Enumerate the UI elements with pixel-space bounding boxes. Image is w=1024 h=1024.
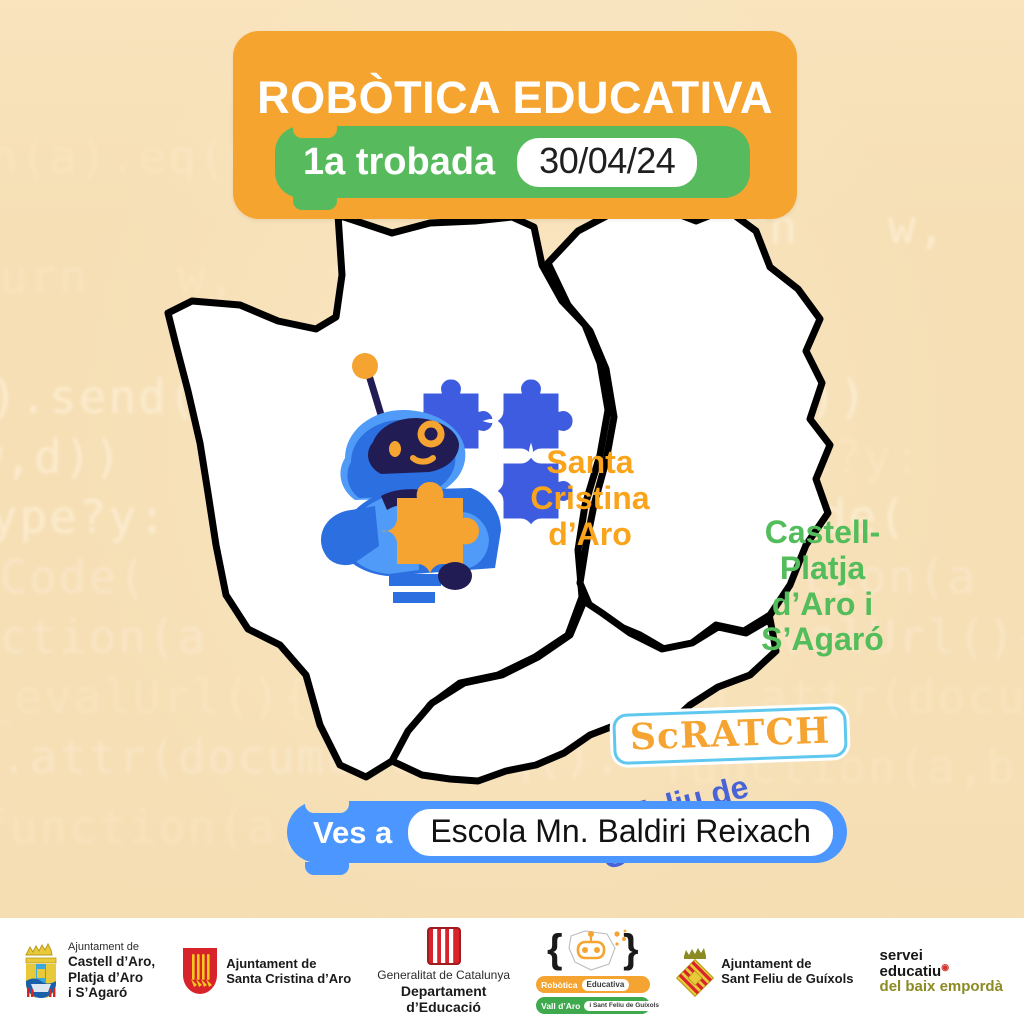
goto-block[interactable]: Ves a Escola Mn. Baldiri Reixach bbox=[287, 801, 847, 863]
sant-feliu-crest-icon bbox=[676, 945, 714, 997]
mini-block-label: Vall d’Aro bbox=[541, 1001, 580, 1011]
logo-line: d’Educació bbox=[377, 999, 510, 1015]
block-nub-icon bbox=[305, 862, 349, 875]
date-badge[interactable]: 30/04/24 bbox=[517, 138, 697, 187]
mini-block-robotica: Robòtica Educativa bbox=[536, 976, 650, 993]
santa-cristina-crest-icon bbox=[181, 946, 219, 996]
logo-line: Castell d’Aro, bbox=[68, 954, 155, 970]
venue-input[interactable]: Escola Mn. Baldiri Reixach bbox=[408, 809, 833, 856]
logo-sant-feliu-de-guixols: Ajuntament de Sant Feliu de Guíxols bbox=[676, 945, 853, 997]
meeting-label: 1a trobada bbox=[303, 143, 495, 181]
block-nub-icon bbox=[293, 197, 337, 210]
poster-root: turn w, for( j).send( (l./>u) ,w,d)) (l.… bbox=[0, 0, 1024, 1024]
map-label-santa-cristina-daro: Santa Cristina d’Aro bbox=[500, 445, 680, 552]
map-label-castell-platja-daro-sagaro: Castell- Platja d’Aro i S’Agaró bbox=[730, 515, 915, 658]
logo-line: Ajuntament de bbox=[68, 941, 155, 954]
block-notch-icon bbox=[305, 800, 349, 813]
logo-text: Generalitat de Catalunya Departament d’E… bbox=[377, 969, 510, 1015]
logo-line: Ajuntament de bbox=[226, 956, 351, 971]
robot-mascot-icon bbox=[285, 350, 525, 610]
mini-block-slot: i Sant Feliu de Guíxols bbox=[584, 1001, 664, 1011]
logo-text: Ajuntament de Santa Cristina d’Aro bbox=[226, 956, 351, 986]
logo-text: Ajuntament de Sant Feliu de Guíxols bbox=[721, 956, 853, 986]
map-label-line: Castell- bbox=[730, 515, 915, 551]
registered-mark-icon: ◉ bbox=[941, 962, 949, 972]
map-label-line: S’Agaró bbox=[730, 622, 915, 658]
logo-line: Generalitat de Catalunya bbox=[377, 969, 510, 983]
logo-line: servei bbox=[880, 948, 1003, 963]
sponsor-footer: Ajuntament de Castell d’Aro, Platja d’Ar… bbox=[0, 918, 1024, 1024]
logo-line: i S’Agaró bbox=[68, 985, 155, 1001]
logo-text: Ajuntament de Castell d’Aro, Platja d’Ar… bbox=[68, 941, 155, 1001]
logo-castell-daro: Ajuntament de Castell d’Aro, Platja d’Ar… bbox=[21, 941, 155, 1001]
logo-line: educatiu◉ bbox=[880, 963, 1003, 979]
logo-line: Santa Cristina d’Aro bbox=[226, 971, 351, 986]
map-label-line: d’Aro i bbox=[730, 587, 915, 623]
goto-label: Ves a bbox=[313, 817, 392, 848]
logo-robotica-educativa: { } Robòtica Educativa V bbox=[536, 928, 650, 1014]
mini-block-vall-daro: Vall d’Aro i Sant Feliu de Guíxols bbox=[536, 997, 650, 1014]
logo-generalitat: Generalitat de Catalunya Departament d’E… bbox=[377, 926, 510, 1015]
comarca-map: Santa Cristina d’Aro Castell- Platja d’A… bbox=[130, 205, 920, 785]
robotica-educativa-emblem-icon: { } bbox=[545, 928, 641, 974]
logo-line: Departament bbox=[377, 983, 510, 999]
map-label-line: Platja bbox=[730, 551, 915, 587]
mini-block-slot: Educativa bbox=[582, 979, 630, 991]
logo-line: Ajuntament de bbox=[721, 956, 853, 971]
svg-text:{: { bbox=[547, 928, 563, 971]
meeting-block[interactable]: 1a trobada 30/04/24 bbox=[275, 126, 750, 198]
mini-block-label: Robòtica bbox=[541, 980, 577, 990]
logo-servei-educatiu: servei educatiu◉ del baix empordà bbox=[880, 948, 1003, 995]
logo-santa-cristina-daro: Ajuntament de Santa Cristina d’Aro bbox=[181, 946, 351, 996]
map-label-line: Cristina bbox=[500, 481, 680, 517]
generalitat-senyera-icon bbox=[424, 926, 464, 966]
block-notch-icon bbox=[293, 125, 337, 138]
page-title: ROBÒTICA EDUCATIVA bbox=[233, 75, 797, 120]
logo-line: Sant Feliu de Guíxols bbox=[721, 971, 853, 986]
castell-daro-crest-icon bbox=[21, 943, 61, 999]
map-label-line: Santa bbox=[500, 445, 680, 481]
logo-text: servei educatiu◉ del baix empordà bbox=[880, 948, 1003, 995]
map-label-line: d’Aro bbox=[500, 517, 680, 553]
logo-line: Platja d’Aro bbox=[68, 970, 155, 986]
logo-line: del baix empordà bbox=[880, 979, 1003, 994]
scratch-logo: ScRATCH bbox=[612, 706, 848, 765]
svg-text:}: } bbox=[623, 928, 639, 971]
